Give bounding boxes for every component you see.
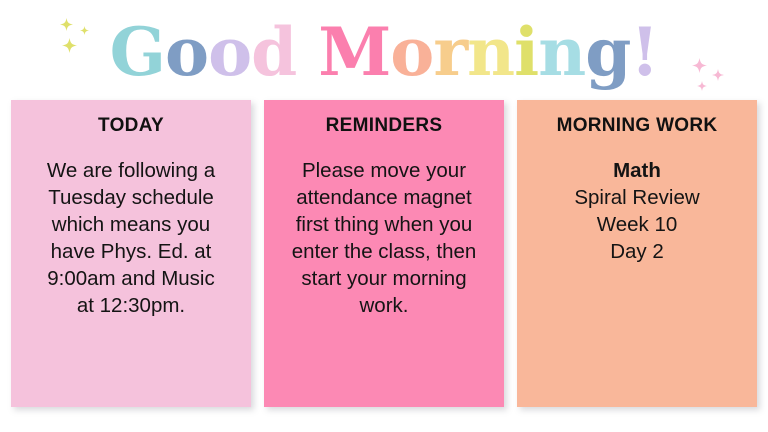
- title-area: Good Morning!: [0, 8, 768, 96]
- title-letter: n: [538, 19, 585, 85]
- title-letter: o: [165, 19, 208, 85]
- card-text-line: start your morning: [274, 265, 494, 292]
- card-text-line: Please move your: [274, 157, 494, 184]
- card-today: TODAYWe are following aTuesday schedulew…: [11, 100, 251, 407]
- title-letter: o: [390, 19, 433, 85]
- title-letter: r: [433, 19, 467, 85]
- sparkle-icon: [80, 22, 89, 31]
- card-text-line: first thing when you: [274, 211, 494, 238]
- card-row: TODAYWe are following aTuesday schedulew…: [0, 100, 768, 408]
- card-text-line: 9:00am and Music: [21, 265, 241, 292]
- card-title-morning-work: MORNING WORK: [557, 116, 718, 137]
- card-body-today: We are following aTuesday schedulewhich …: [21, 157, 241, 319]
- title-letter: o: [208, 19, 251, 85]
- card-title-today: TODAY: [98, 116, 164, 137]
- card-text-line: enter the class, then: [274, 238, 494, 265]
- title-letter: M: [318, 19, 390, 85]
- card-lead-morning-work: Math: [527, 157, 747, 184]
- card-text-line: Spiral Review: [527, 184, 747, 211]
- card-text-line: at 12:30pm.: [21, 292, 241, 319]
- title-letter: G: [110, 19, 165, 85]
- card-body-reminders: Please move yourattendance magnetfirst t…: [274, 157, 494, 319]
- sparkle-icon: [697, 78, 707, 88]
- card-body-morning-work: MathSpiral ReviewWeek 10Day 2: [527, 157, 747, 265]
- page-title: Good Morning!: [110, 19, 659, 85]
- card-text-line: have Phys. Ed. at: [21, 238, 241, 265]
- card-morning-work: MORNING WORKMathSpiral ReviewWeek 10Day …: [517, 100, 757, 407]
- sparkle-icon: [692, 58, 707, 73]
- card-reminders: REMINDERSPlease move yourattendance magn…: [264, 100, 504, 407]
- title-letter: [296, 19, 318, 85]
- title-letter: !: [630, 19, 658, 85]
- card-title-reminders: REMINDERS: [326, 116, 443, 137]
- sparkle-icon: [712, 68, 724, 80]
- card-text-line: Day 2: [527, 238, 747, 265]
- title-letter: g: [585, 19, 630, 85]
- title-letter: d: [251, 19, 296, 85]
- card-text-line: Week 10: [527, 211, 747, 238]
- morning-announcement-slide: Good Morning! TODAYWe are following aTue…: [0, 0, 768, 432]
- card-text-line: work.: [274, 292, 494, 319]
- card-text-line: which means you: [21, 211, 241, 238]
- card-text-line: attendance magnet: [274, 184, 494, 211]
- card-text-line: Tuesday schedule: [21, 184, 241, 211]
- title-letter: i: [514, 19, 538, 85]
- sparkle-icon: [60, 18, 73, 31]
- title-letter: n: [467, 19, 514, 85]
- sparkle-icon: [62, 38, 77, 53]
- card-text-line: We are following a: [21, 157, 241, 184]
